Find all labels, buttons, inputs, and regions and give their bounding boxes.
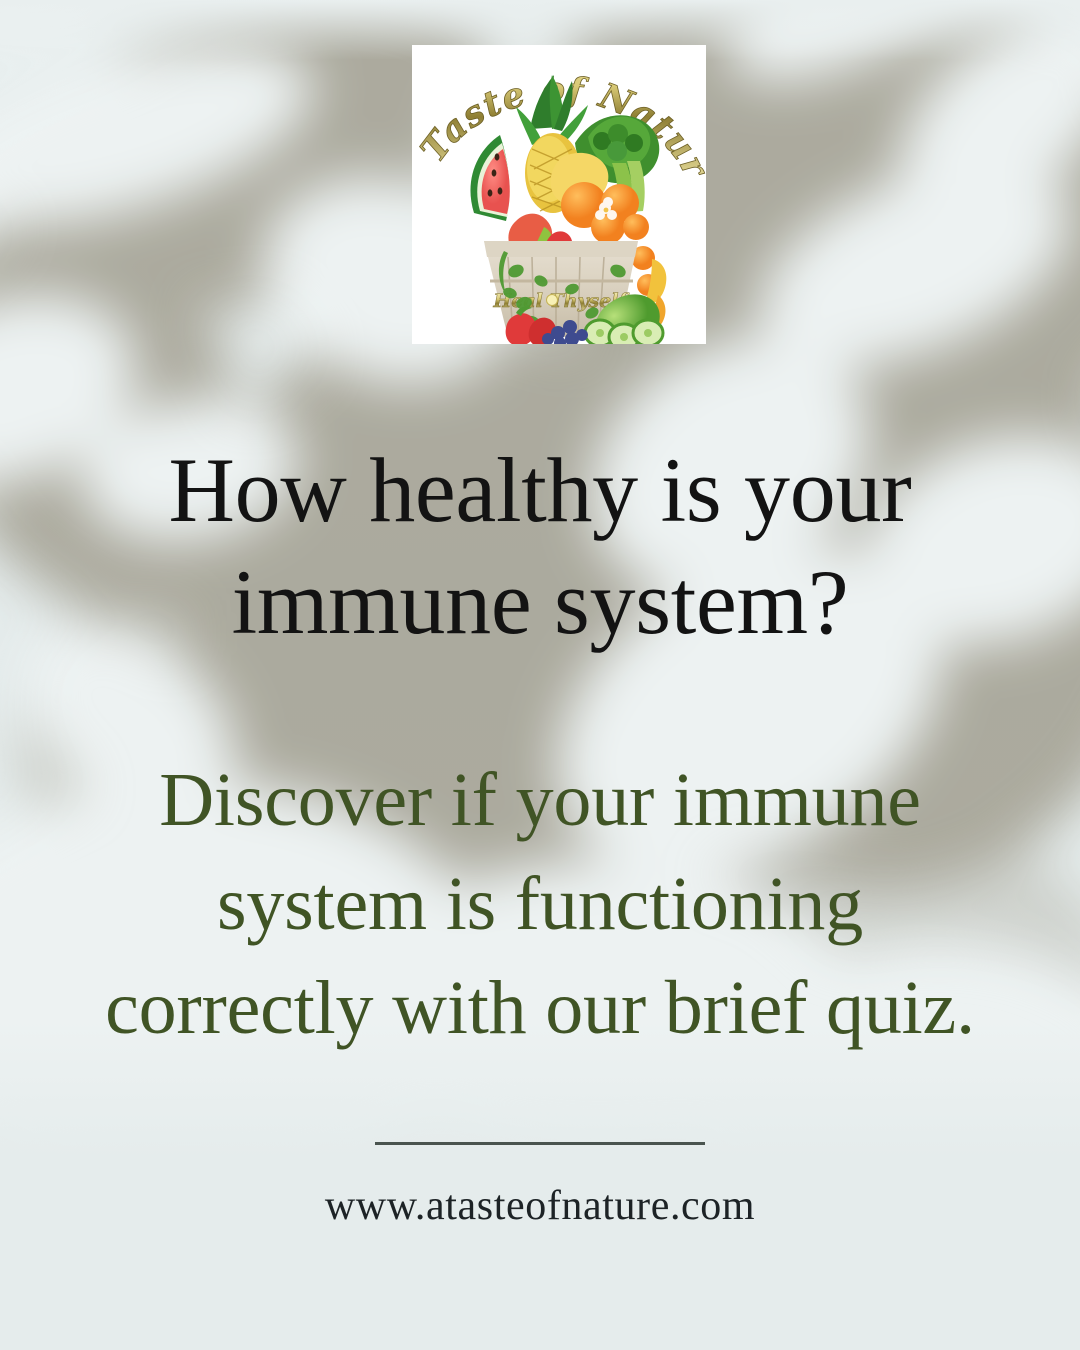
subheading-line-2: system is functioning — [44, 852, 1036, 956]
subheading: Discover if your immune system is functi… — [44, 748, 1036, 1060]
headline-line-2: immune system? — [0, 546, 1080, 658]
logo-artwork: A Taste of Nature — [412, 45, 706, 344]
page-title: How healthy is your immune system? — [0, 434, 1080, 658]
subheading-line-3: correctly with our brief quiz. — [44, 956, 1036, 1060]
footer-divider — [375, 1142, 705, 1145]
subheading-line-1: Discover if your immune — [44, 748, 1036, 852]
headline-line-1: How healthy is your — [0, 434, 1080, 546]
website-url[interactable]: www.atasteofnature.com — [0, 1182, 1080, 1230]
promo-poster: A Taste of Nature — [0, 0, 1080, 1350]
brand-logo: A Taste of Nature — [412, 45, 706, 344]
